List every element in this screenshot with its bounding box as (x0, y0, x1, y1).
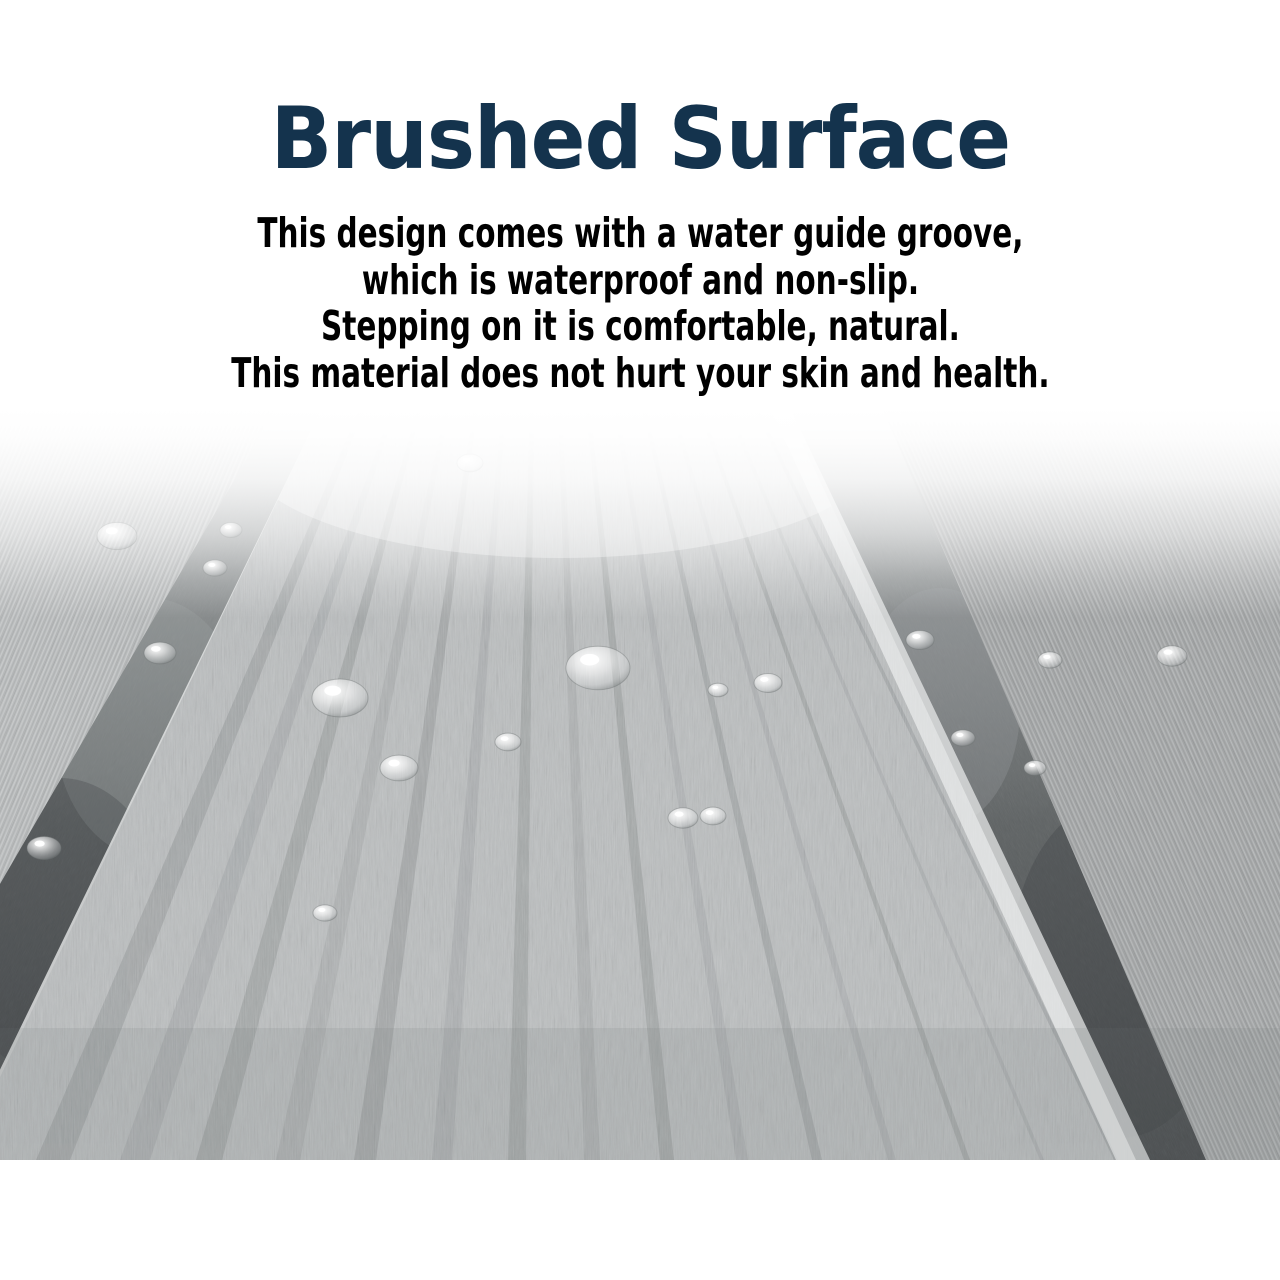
text-header-block: Brushed Surface This design comes with a… (0, 0, 1280, 410)
water-droplet (495, 733, 521, 751)
water-droplet (380, 755, 418, 781)
water-droplet (708, 683, 728, 697)
water-droplet (1157, 646, 1187, 666)
water-droplet (203, 560, 227, 576)
wood-decking-illustration (0, 408, 1280, 1160)
water-droplet (97, 522, 137, 549)
description-lines: This design comes with a water guide gro… (129, 210, 1152, 397)
water-droplet (700, 807, 726, 825)
water-droplet (220, 523, 242, 538)
description-line: which is waterproof and non-slip. (231, 257, 1049, 304)
water-droplet (906, 630, 934, 649)
water-droplet (144, 642, 176, 664)
water-droplet (312, 679, 368, 717)
water-droplet (27, 836, 61, 859)
brushed-wood-surface-photo (0, 408, 1280, 1160)
description-line: This design comes with a water guide gro… (231, 210, 1049, 257)
water-droplet (754, 673, 782, 692)
description-line: This material does not hurt your skin an… (231, 350, 1049, 397)
water-droplet (313, 905, 337, 921)
water-droplet (566, 646, 630, 690)
water-droplet (1038, 652, 1062, 668)
photo-bottom-shade (0, 1028, 1280, 1160)
water-droplet (951, 730, 975, 746)
water-droplet (1024, 761, 1046, 776)
description-line: Stepping on it is comfortable, natural. (231, 303, 1049, 350)
water-droplet (457, 454, 483, 472)
bottom-white-band (0, 1160, 1280, 1280)
page-title: Brushed Surface (270, 96, 1010, 182)
water-droplet (668, 808, 698, 828)
